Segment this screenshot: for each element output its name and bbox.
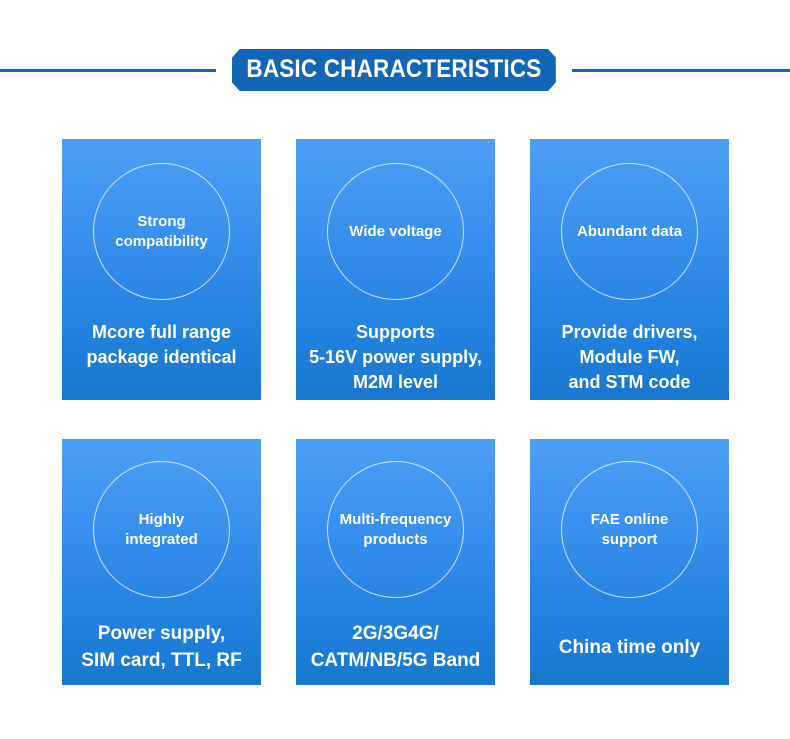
card-caption-3: Provide drivers, Module FW, and STM code: [500, 320, 760, 395]
circle-badge-4: Highly integrated: [93, 461, 230, 598]
circle-label-2: Wide voltage: [347, 222, 443, 242]
circle-badge-5: Multi-frequency products: [327, 461, 464, 598]
page-root: BASIC CHARACTERISTICS Strong compatibili…: [0, 0, 790, 739]
characteristic-card-3: Abundant data Provide drivers, Module FW…: [530, 139, 729, 400]
card-caption-4: Power supply, SIM card, TTL, RF: [32, 620, 292, 674]
characteristics-grid: Strong compatibility Mcore full range pa…: [62, 139, 730, 685]
card-caption-6: China time only: [500, 634, 760, 661]
circle-label-6: FAE online support: [589, 510, 671, 550]
card-caption-1: Mcore full range package identical: [32, 320, 292, 370]
header-rule-right: [572, 69, 790, 72]
circle-badge-2: Wide voltage: [327, 163, 464, 300]
characteristic-card-6: FAE online support China time only: [530, 439, 729, 685]
characteristic-card-2: Wide voltage Supports 5-16V power supply…: [296, 139, 495, 400]
card-caption-5: 2G/3G4G/ CATM/NB/5G Band: [266, 620, 526, 674]
circle-label-3: Abundant data: [575, 222, 684, 242]
characteristic-card-4: Highly integrated Power supply, SIM card…: [62, 439, 261, 685]
circle-label-1: Strong compatibility: [113, 212, 210, 252]
circle-label-5: Multi-frequency products: [338, 510, 454, 550]
card-caption-2: Supports 5-16V power supply, M2M level: [266, 320, 526, 395]
circle-badge-1: Strong compatibility: [93, 163, 230, 300]
header-rule-left: [0, 69, 216, 72]
circle-label-4: Highly integrated: [123, 510, 200, 550]
circle-badge-6: FAE online support: [561, 461, 698, 598]
section-header: BASIC CHARACTERISTICS: [0, 44, 790, 96]
circle-badge-3: Abundant data: [561, 163, 698, 300]
page-title: BASIC CHARACTERISTICS: [232, 49, 556, 92]
characteristic-card-5: Multi-frequency products 2G/3G4G/ CATM/N…: [296, 439, 495, 685]
characteristic-card-1: Strong compatibility Mcore full range pa…: [62, 139, 261, 400]
